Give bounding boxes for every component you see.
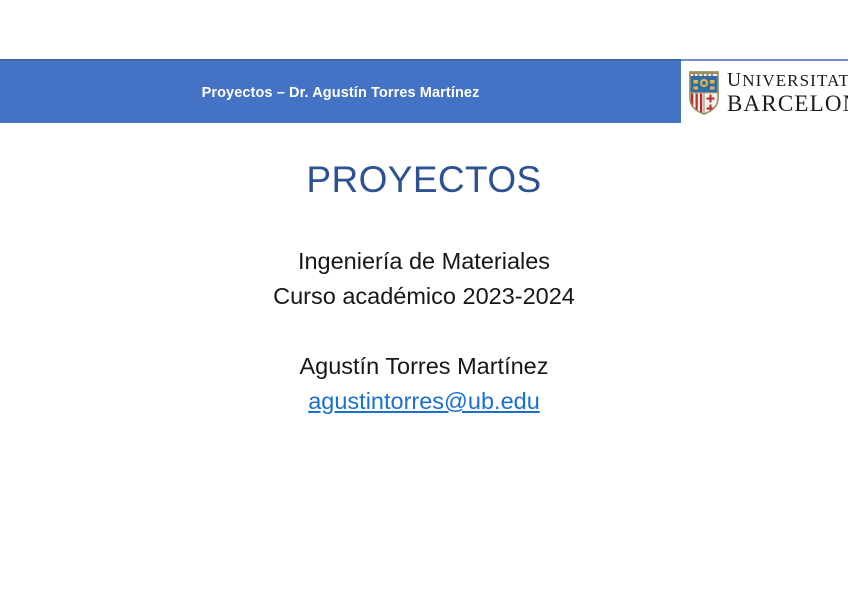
logo-line-universitat: UNIVERSITATDE [727, 71, 848, 91]
email-link[interactable]: agustintorres@ub.edu [308, 388, 540, 414]
slide-content: PROYECTOS Ingeniería de Materiales Curso… [0, 123, 848, 419]
course-year-line: Curso académico 2023-2024 [0, 279, 848, 314]
slide-canvas: Proyectos – Dr. Agustín Torres Martínez [0, 0, 848, 599]
logo-block: UNIVERSITATDE BARCELONA [681, 59, 848, 123]
ub-shield-icon [688, 70, 720, 116]
logo-initial-u: U [727, 71, 742, 91]
author-email-line: agustintorres@ub.edu [0, 384, 848, 419]
page-title: PROYECTOS [0, 159, 848, 201]
author-block: Agustín Torres Martínez agustintorres@ub… [0, 349, 848, 419]
logo-wordmark: UNIVERSITATDE BARCELONA [727, 71, 848, 116]
logo-line-barcelona: BARCELONA [727, 92, 848, 115]
logo-inner: UNIVERSITATDE BARCELONA [685, 63, 848, 123]
course-block: Ingeniería de Materiales Curso académico… [0, 244, 848, 314]
header-title: Proyectos – Dr. Agustín Torres Martínez [0, 61, 681, 125]
logo-universitat-rest: NIVERSITAT [742, 72, 848, 89]
header-band: Proyectos – Dr. Agustín Torres Martínez [0, 59, 681, 123]
degree-line: Ingeniería de Materiales [0, 244, 848, 279]
author-name: Agustín Torres Martínez [0, 349, 848, 384]
